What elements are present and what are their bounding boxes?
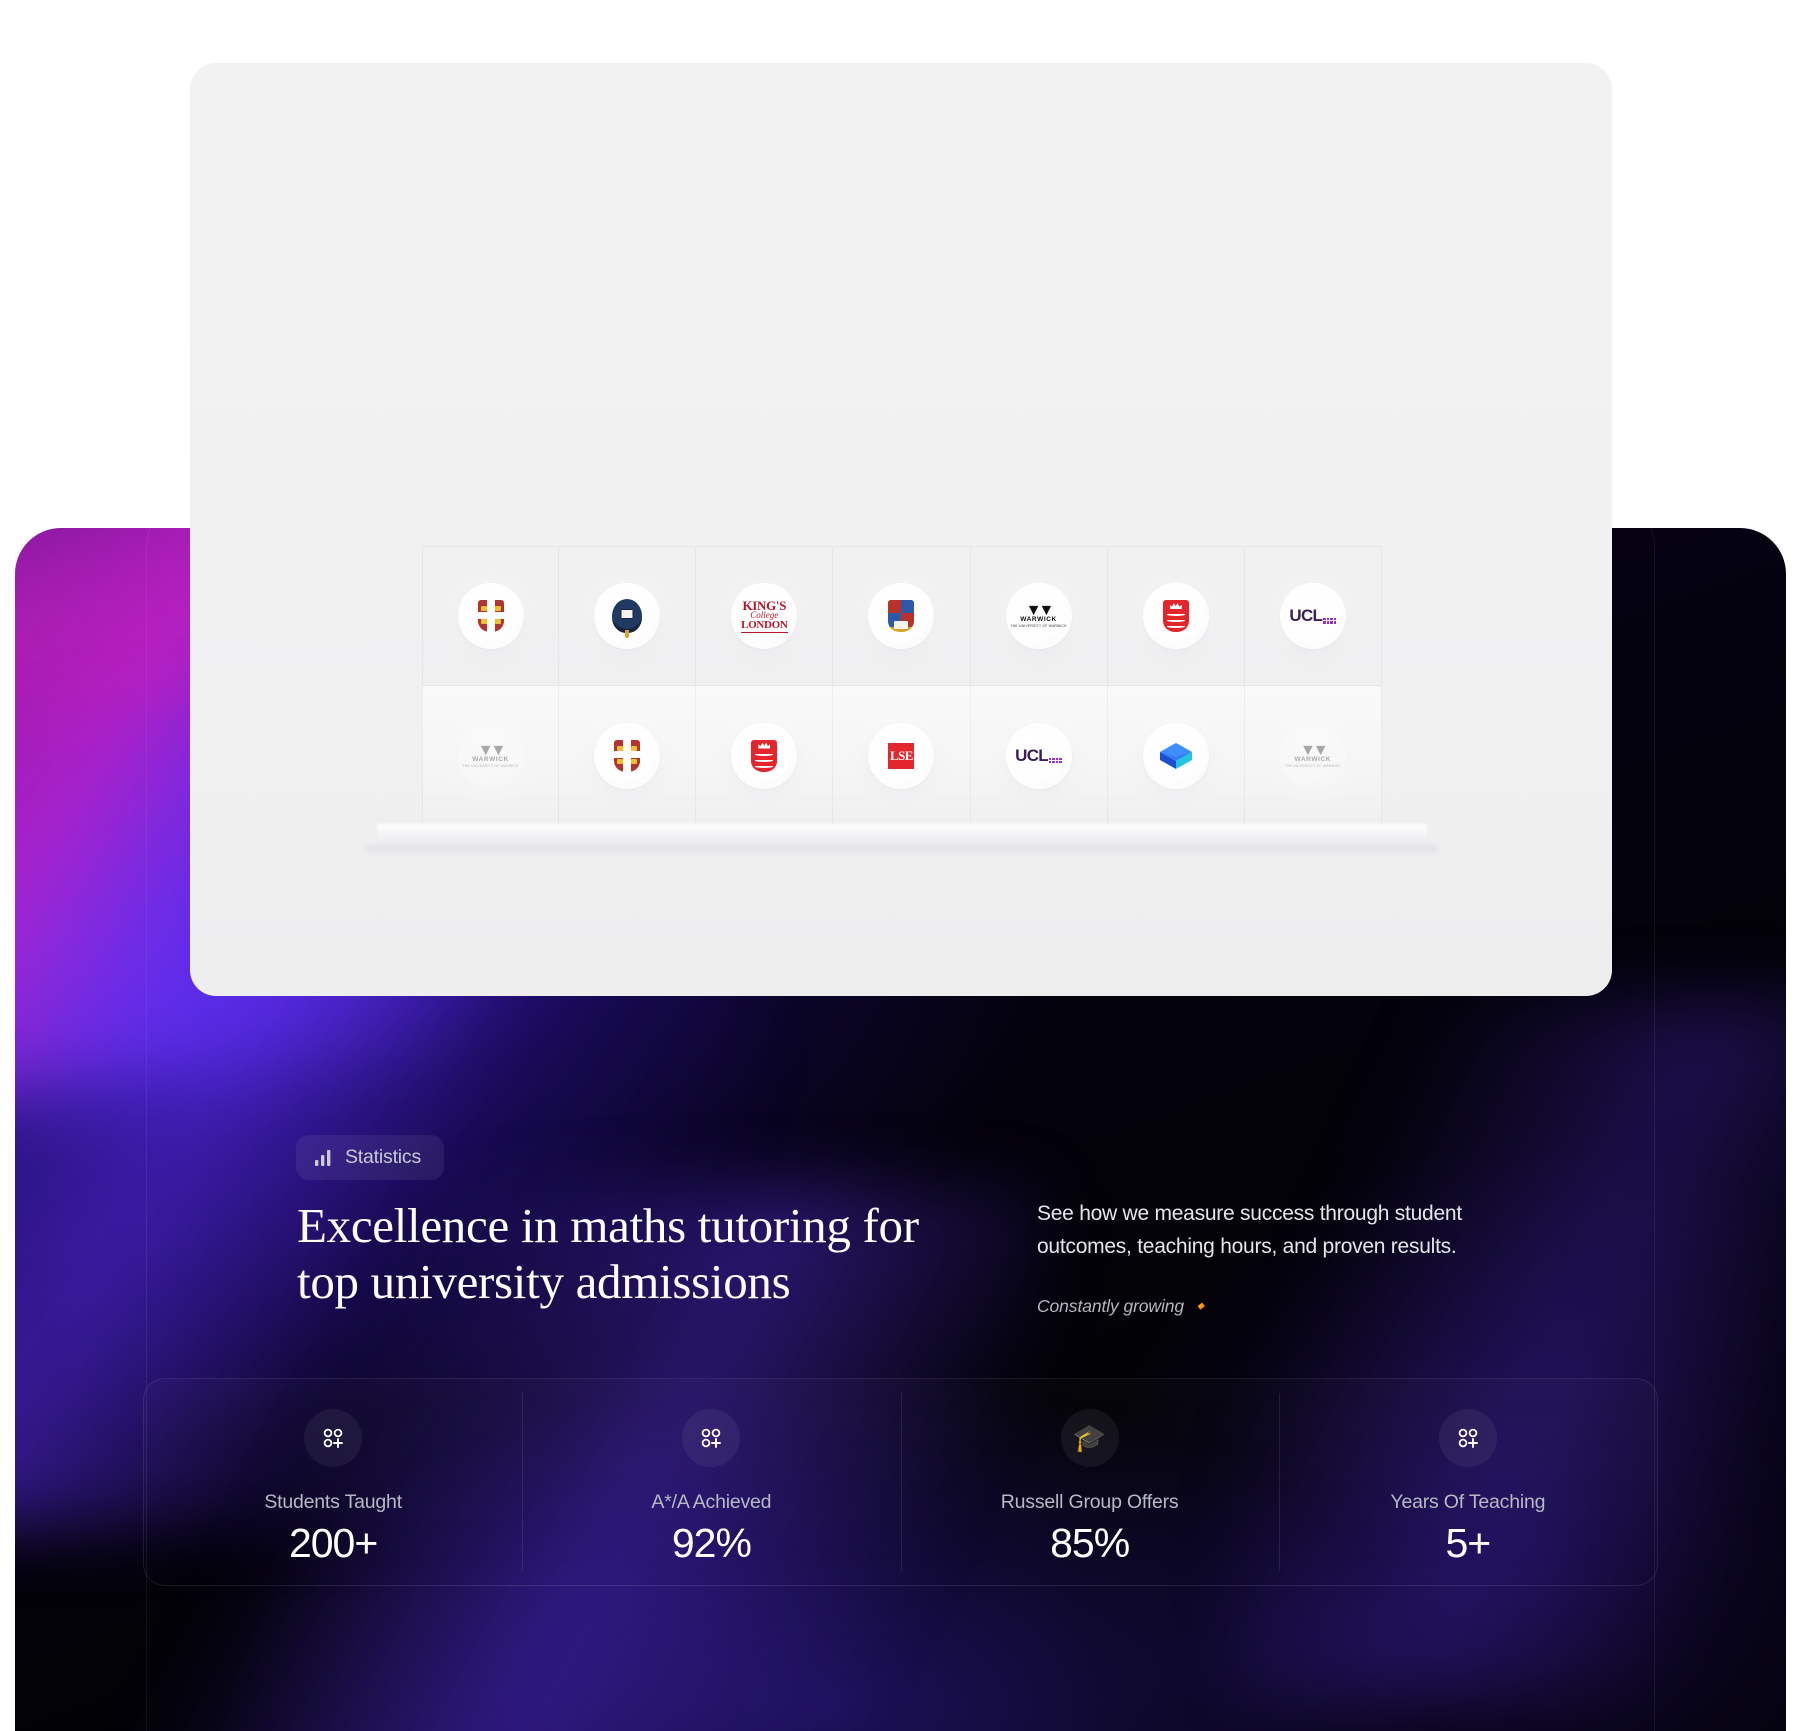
- statistics-heading: Excellence in maths tutoring for top uni…: [297, 1198, 987, 1310]
- logo-badge: [1143, 583, 1209, 649]
- statistics-note: Constantly growing 🔸: [1037, 1296, 1211, 1317]
- logo-badge: [1143, 723, 1209, 789]
- stat-label: Russell Group Offers: [1001, 1491, 1179, 1514]
- ucl-wordmark-icon: UCL: [1289, 608, 1336, 623]
- stat-icon-wrap: 🎓: [1061, 1409, 1119, 1467]
- statistics-badge[interactable]: Statistics: [296, 1135, 444, 1180]
- logo-badge: [868, 583, 934, 649]
- stat-icon-wrap: [1439, 1409, 1497, 1467]
- logo-badge: ▼▼ WARWICK THE UNIVERSITY OF WARWICK: [1280, 723, 1346, 789]
- stat-label: A*/A Achieved: [651, 1491, 771, 1514]
- edinburgh-shield-icon: [888, 600, 914, 632]
- stat-card-years-of-teaching: Years Of Teaching 5+: [1279, 1379, 1657, 1585]
- logo-shelf-shadow: [367, 846, 1437, 856]
- logo-row-1: KING'SCollegeLONDON ▼▼ WARWICK THE UNIVE…: [422, 546, 1382, 686]
- stat-value: 85%: [1050, 1520, 1129, 1567]
- stat-value: 200+: [289, 1520, 377, 1567]
- stat-value: 5+: [1446, 1520, 1491, 1567]
- graduation-cap-logo-icon: [1159, 741, 1193, 771]
- logo-cell-lse[interactable]: LSE: [833, 686, 970, 826]
- logo-cell-kcl[interactable]: KING'SCollegeLONDON: [696, 546, 833, 686]
- logo-badge: [731, 723, 797, 789]
- warwick-wordmark-icon: ▼▼ WARWICK THE UNIVERSITY OF WARWICK: [1285, 743, 1341, 768]
- lse-wordmark-icon: LSE: [888, 743, 914, 769]
- logo-badge: KING'SCollegeLONDON: [731, 583, 797, 649]
- stat-value: 92%: [672, 1520, 751, 1567]
- cambridge-shield-icon: [614, 740, 640, 772]
- logo-row-2: ▼▼ WARWICK THE UNIVERSITY OF WARWICK: [422, 686, 1382, 826]
- logo-badge: UCL: [1280, 583, 1346, 649]
- qmul-shield-icon: [1163, 600, 1189, 632]
- logo-cell-oxford[interactable]: [559, 546, 696, 686]
- group-add-icon: [698, 1425, 724, 1451]
- statistics-note-label: Constantly growing: [1037, 1296, 1184, 1317]
- aurora-glow-right: [1235, 998, 1786, 1698]
- logo-cell-warwick[interactable]: ▼▼ WARWICK THE UNIVERSITY OF WARWICK: [422, 686, 559, 826]
- logo-cell-cambridge[interactable]: [559, 686, 696, 826]
- stat-card-students-taught: Students Taught 200+: [144, 1379, 522, 1585]
- stat-card-a-star-achieved: A*/A Achieved 92%: [522, 1379, 900, 1585]
- screenshot-root: 🎓 Our Graduates All Top Universities Cho…: [0, 0, 1800, 1731]
- stat-icon-wrap: [304, 1409, 362, 1467]
- university-logo-grid: KING'SCollegeLONDON ▼▼ WARWICK THE UNIVE…: [422, 546, 1382, 826]
- logo-badge: [458, 583, 524, 649]
- statistics-cards: Students Taught 200+ A*/A Achieved 92% 🎓…: [143, 1378, 1658, 1586]
- stat-label: Years Of Teaching: [1390, 1491, 1545, 1514]
- cambridge-shield-icon: [478, 600, 504, 632]
- logo-cell-warwick[interactable]: ▼▼ WARWICK THE UNIVERSITY OF WARWICK: [971, 546, 1108, 686]
- stat-label: Students Taught: [264, 1491, 402, 1514]
- graduation-cap-icon: 🎓: [1073, 1425, 1107, 1452]
- logo-badge: UCL: [1006, 723, 1072, 789]
- ucl-wordmark-icon: UCL: [1015, 748, 1062, 763]
- warwick-wordmark-icon: ▼▼ WARWICK THE UNIVERSITY OF WARWICK: [462, 743, 518, 768]
- oxford-crest-icon: [612, 599, 642, 633]
- stat-card-russell-group-offers: 🎓 Russell Group Offers 85%: [901, 1379, 1279, 1585]
- arrow-up-right-icon: 🔸: [1189, 1296, 1211, 1317]
- logo-badge: [594, 583, 660, 649]
- logo-cell-ucl[interactable]: UCL: [1245, 546, 1382, 686]
- logo-badge: ▼▼ WARWICK THE UNIVERSITY OF WARWICK: [1006, 583, 1072, 649]
- warwick-wordmark-icon: ▼▼ WARWICK THE UNIVERSITY OF WARWICK: [1010, 603, 1066, 628]
- logo-badge: [594, 723, 660, 789]
- group-add-icon: [320, 1425, 346, 1451]
- qmul-shield-icon: [751, 740, 777, 772]
- logo-cell-ucl[interactable]: UCL: [971, 686, 1108, 826]
- group-add-icon: [1455, 1425, 1481, 1451]
- universities-card: [190, 63, 1612, 996]
- logo-cell-cambridge[interactable]: [422, 546, 559, 686]
- logo-cell-graduate-academy[interactable]: [1108, 686, 1245, 826]
- logo-cell-qmul[interactable]: [696, 686, 833, 826]
- logo-badge: ▼▼ WARWICK THE UNIVERSITY OF WARWICK: [458, 723, 524, 789]
- logo-cell-warwick[interactable]: ▼▼ WARWICK THE UNIVERSITY OF WARWICK: [1245, 686, 1382, 826]
- bar-chart-icon: [314, 1149, 334, 1167]
- logo-badge: LSE: [868, 723, 934, 789]
- statistics-copy: See how we measure success through stude…: [1037, 1198, 1487, 1263]
- statistics-badge-label: Statistics: [345, 1146, 421, 1169]
- stat-icon-wrap: [682, 1409, 740, 1467]
- kcl-wordmark-icon: KING'SCollegeLONDON: [741, 599, 787, 633]
- logo-cell-qmul[interactable]: [1108, 546, 1245, 686]
- logo-cell-edinburgh[interactable]: [833, 546, 970, 686]
